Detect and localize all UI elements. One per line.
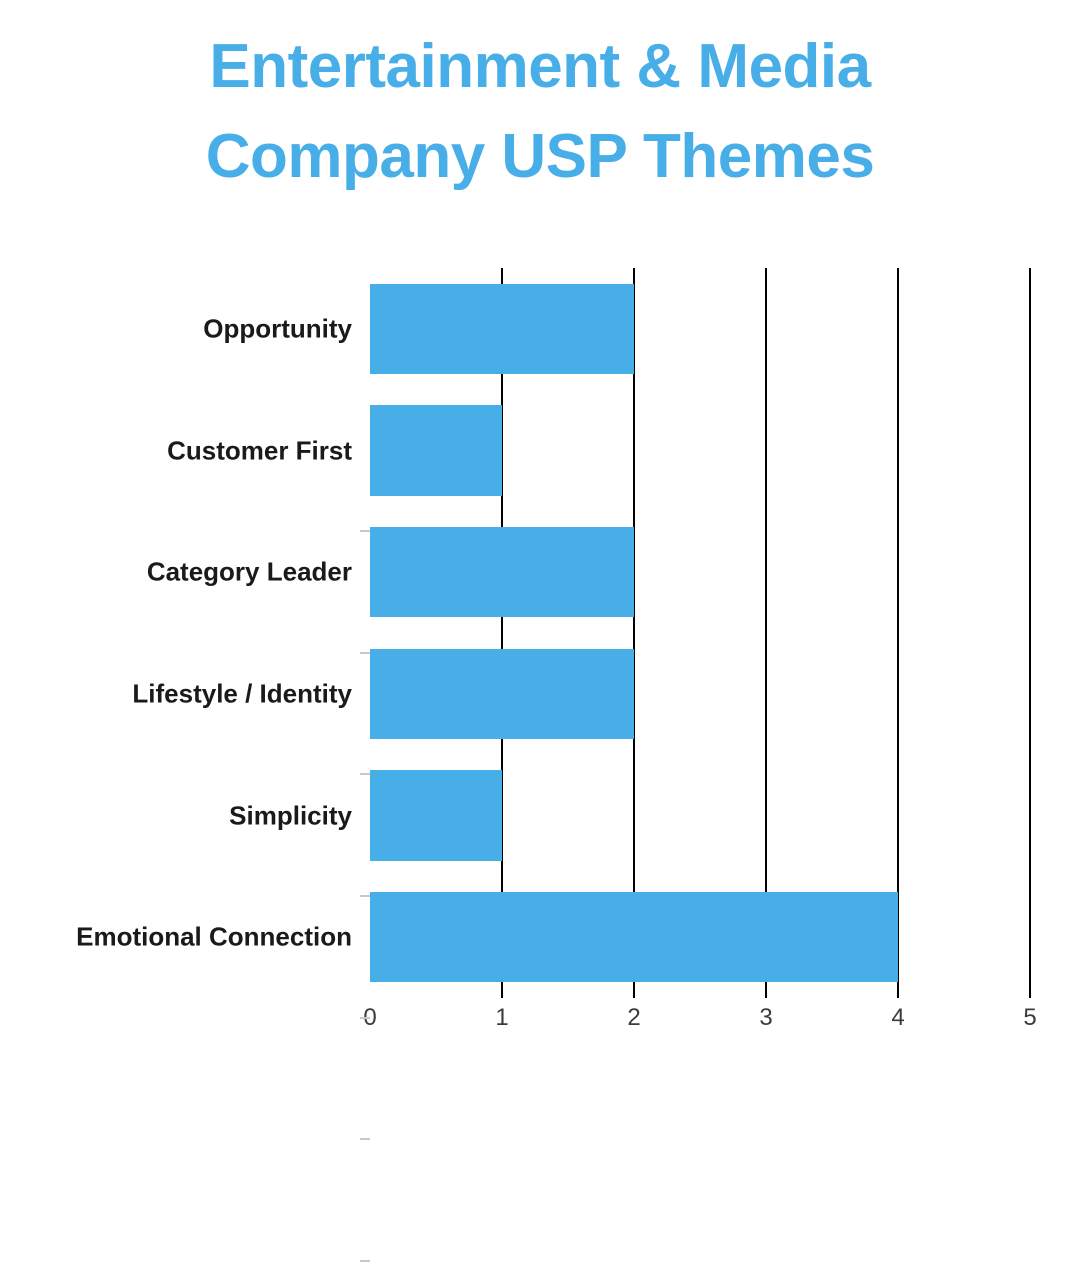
chart-area: 012345 xyxy=(0,262,1080,1062)
x-gridline xyxy=(897,268,899,998)
y-tick xyxy=(360,895,370,897)
y-tick xyxy=(360,773,370,775)
chart-page: Entertainment & Media Company USP Themes… xyxy=(0,0,1080,1080)
title-line-2: Company USP Themes xyxy=(0,112,1080,202)
bar xyxy=(370,770,502,860)
x-axis-tick-label: 1 xyxy=(495,1004,508,1032)
x-axis-tick-label: 2 xyxy=(627,1004,640,1032)
page-title: Entertainment & Media Company USP Themes xyxy=(0,22,1080,202)
plot-background xyxy=(370,268,1030,998)
x-axis-tick-label: 3 xyxy=(759,1004,772,1032)
x-axis-tick-label: 4 xyxy=(891,1004,904,1032)
x-gridline xyxy=(633,268,635,998)
bar xyxy=(370,649,634,739)
x-gridline xyxy=(501,268,503,998)
x-axis-labels: 012345 xyxy=(370,1004,1030,1054)
title-line-1: Entertainment & Media xyxy=(0,22,1080,112)
y-tick xyxy=(360,652,370,654)
y-tick xyxy=(360,1017,370,1019)
x-gridline xyxy=(369,268,371,998)
y-tick xyxy=(360,1138,370,1140)
x-gridline xyxy=(765,268,767,998)
bar xyxy=(370,405,502,495)
bar xyxy=(370,284,634,374)
y-tick xyxy=(360,530,370,532)
x-gridline xyxy=(1029,268,1031,998)
x-axis-tick-label: 5 xyxy=(1023,1004,1036,1032)
bar xyxy=(370,527,634,617)
plot-region xyxy=(370,268,1030,998)
bar xyxy=(370,892,898,982)
